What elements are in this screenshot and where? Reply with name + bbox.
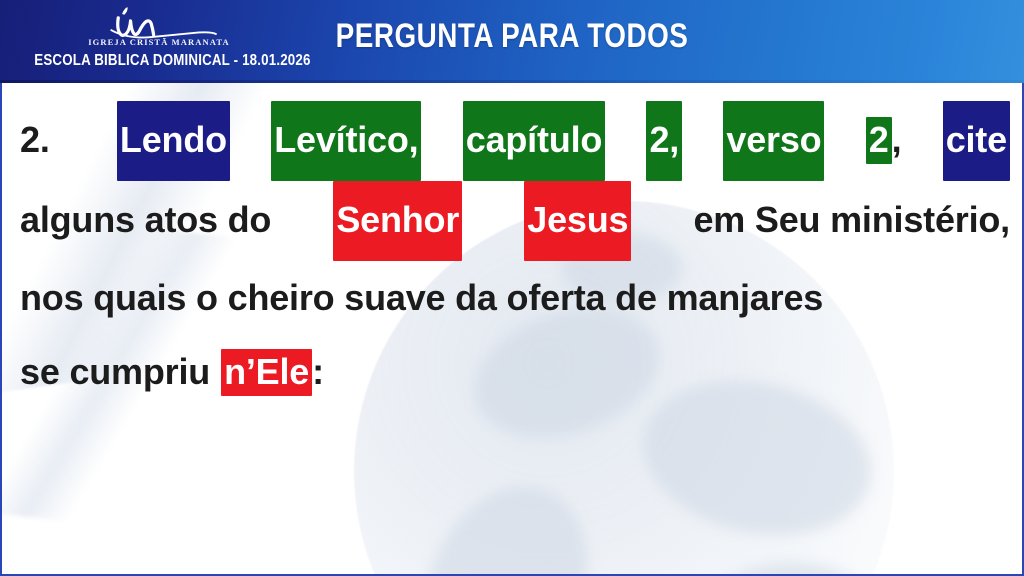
question-line2-text-b: em Seu ministério, [693,183,1010,257]
highlight-lendo: Lendo [117,101,230,181]
slide-body: 2. Lendo Levítico, capítulo 2, verso 2, … [0,83,1024,576]
slide-header: IGREJA CRISTÃ MARANATA ESCOLA BIBLICA DO… [0,0,1024,83]
highlight-senhor: Senhor [333,181,462,261]
comma-after-verse: , [892,119,902,160]
page-title: PERGUNTA PARA TODOS [92,17,932,56]
question-line-4: se cumpriun’Ele: [20,335,1010,409]
highlight-capitulo: capítulo [463,101,605,181]
highlight-verse-number: 2 [866,117,892,164]
highlight-verso: verso [723,101,824,181]
highlight-jesus: Jesus [524,181,631,261]
question-line-2: alguns atos do Senhor Jesus em Seu minis… [20,181,1010,261]
highlight-cite: cite [943,101,1010,181]
question-line3-text: nos quais o cheiro suave da oferta de ma… [20,277,823,318]
colon-after-nele: : [312,351,324,392]
verse-number-group: 2, [866,103,902,177]
question-line-1: 2. Lendo Levítico, capítulo 2, verso 2, … [20,101,1010,181]
question-line4-text-a: se cumpriu [20,351,210,392]
question-text-block: 2. Lendo Levítico, capítulo 2, verso 2, … [20,101,1010,409]
highlight-nele: n’Ele [221,349,312,396]
highlight-levitico: Levítico, [271,101,421,181]
presentation-slide: IGREJA CRISTÃ MARANATA ESCOLA BIBLICA DO… [0,0,1024,576]
question-number: 2. [20,103,50,177]
question-line-3: nos quais o cheiro suave da oferta de ma… [20,261,1010,335]
highlight-chapter-number: 2, [646,101,682,181]
question-line2-text-a: alguns atos do [20,183,271,257]
